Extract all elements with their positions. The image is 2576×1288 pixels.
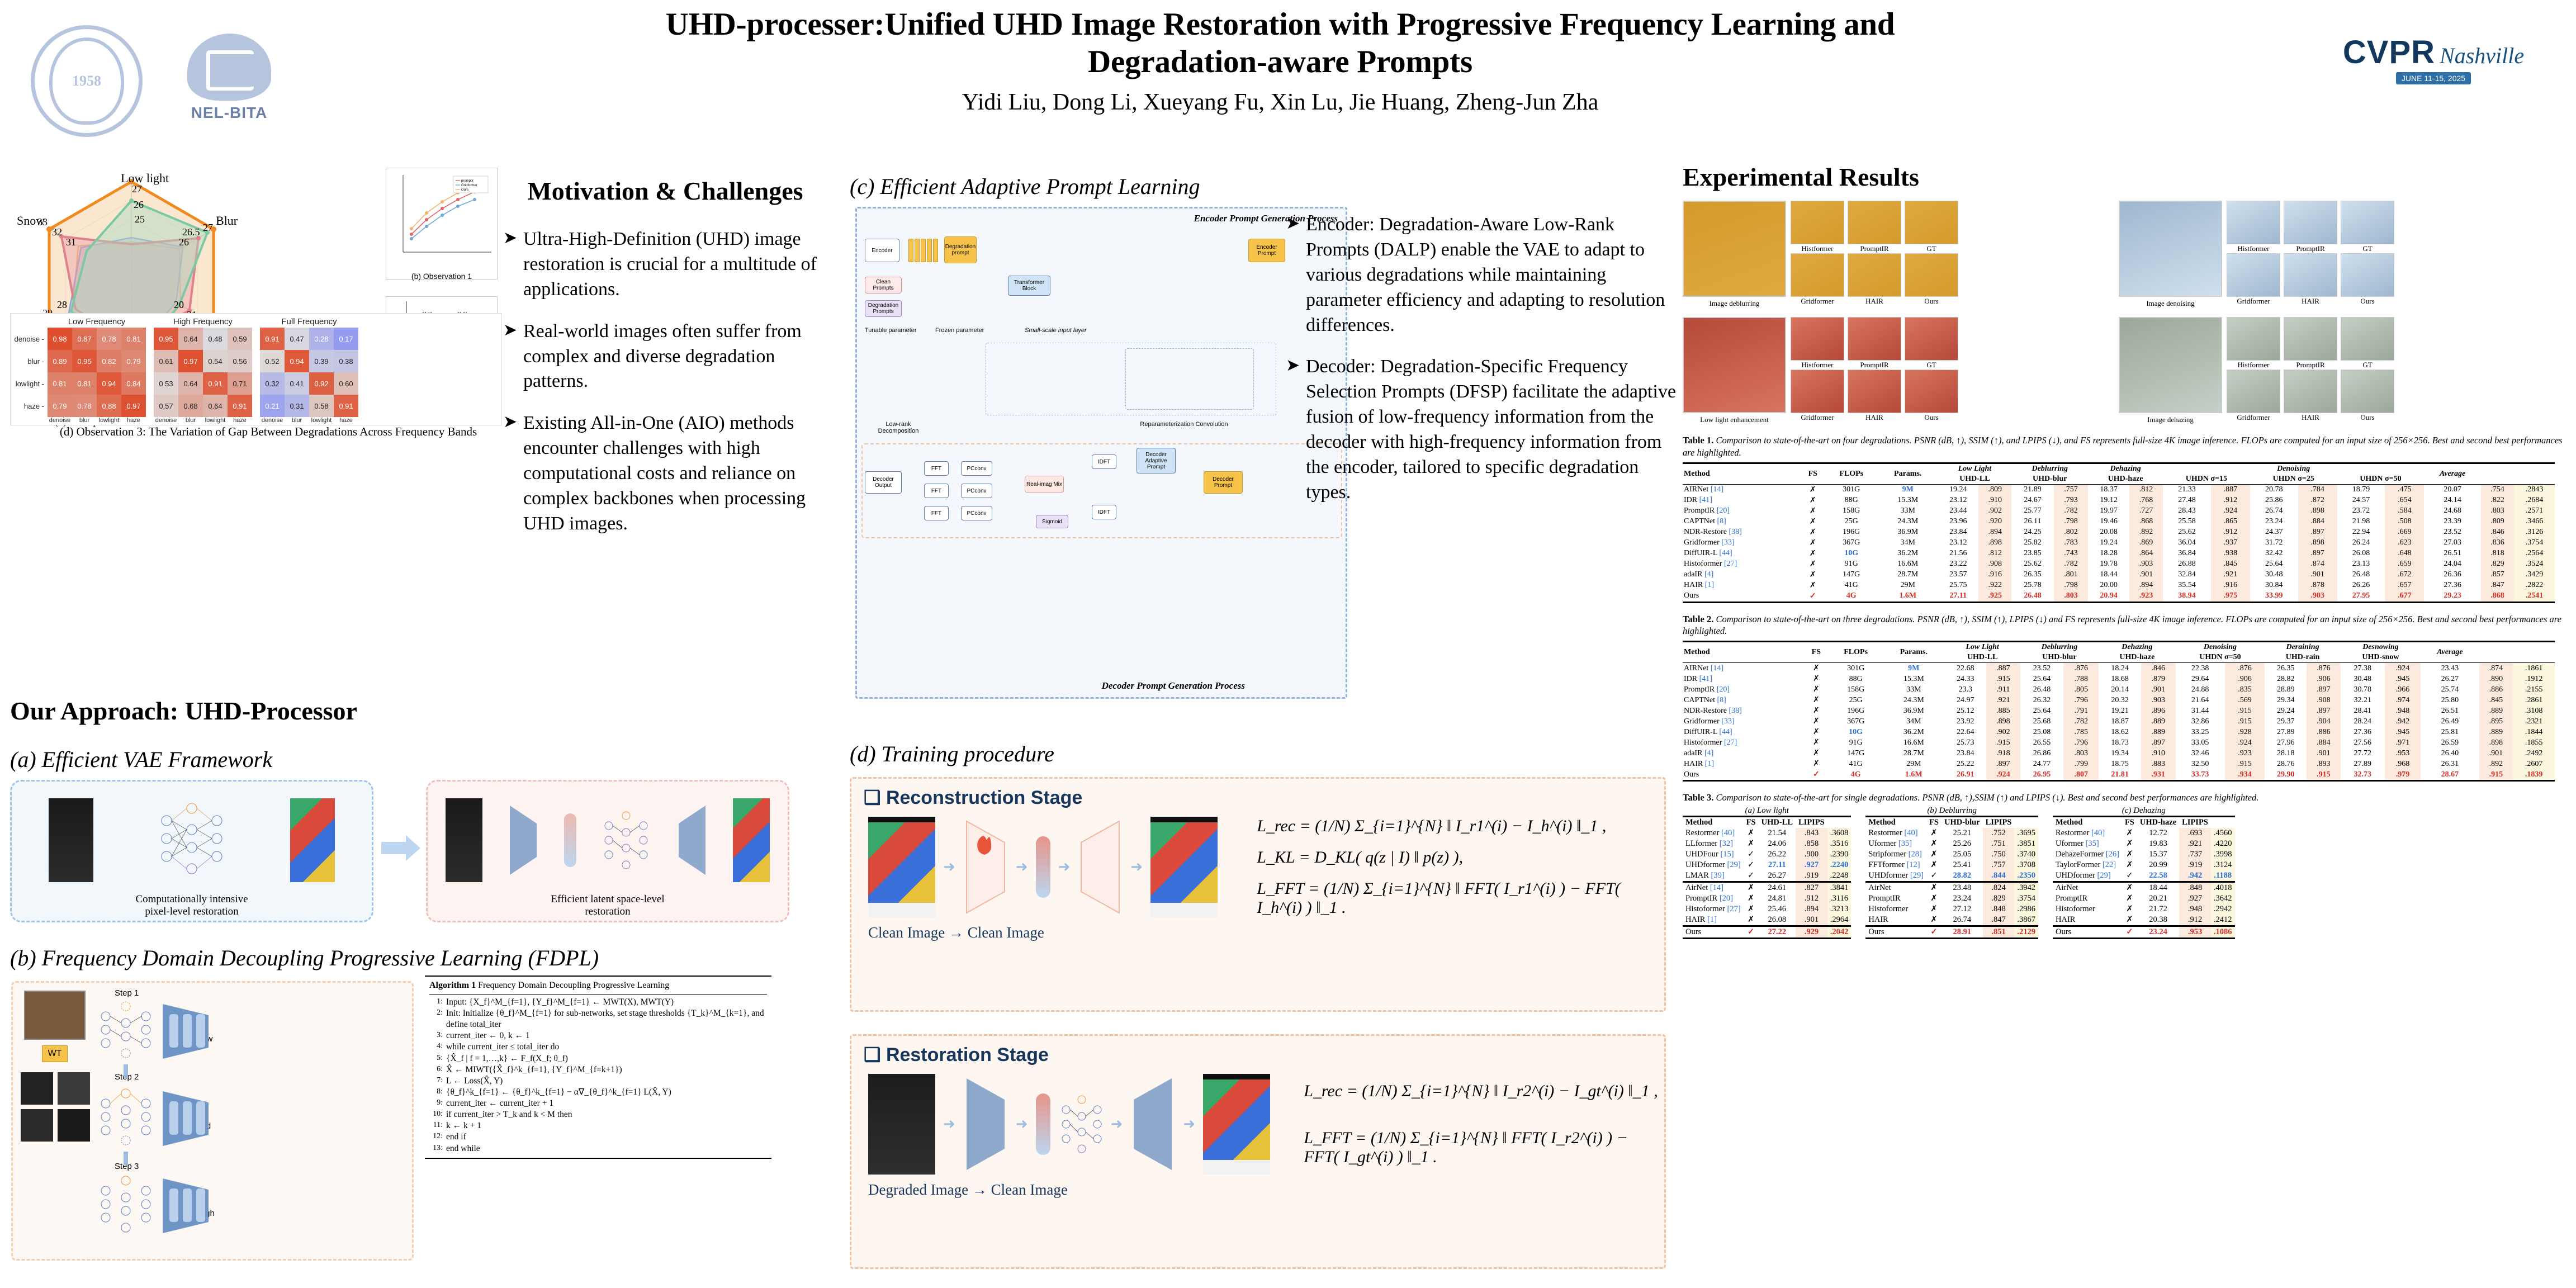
thumbnail-cell: PromptIR	[1848, 317, 1901, 370]
method-label: Gridformer	[2227, 297, 2280, 306]
table-cell: 36.9M	[1883, 705, 1944, 716]
table-cell: .868	[2481, 591, 2514, 603]
heatmap-row-label: haze -	[13, 395, 48, 417]
heatmap-cell: 0.88	[97, 395, 121, 417]
table-cell: ✗	[1804, 705, 1829, 716]
table-cell: .782	[2054, 506, 2088, 517]
svg-text:Ours: Ours	[461, 188, 468, 192]
table-cell: 26.88	[2163, 559, 2211, 570]
table-cell: 9M	[1878, 484, 1938, 495]
method-result-image	[1848, 317, 1901, 361]
table-header-cell: Average	[2424, 463, 2481, 484]
table-cell: 25.68	[2020, 716, 2063, 727]
citation-ref: [12]	[1906, 860, 1920, 869]
algorithm-line-number: 10:	[429, 1109, 443, 1120]
heatmap-cell: 0.91	[228, 395, 252, 417]
table-header-cell: UHDN σ=25	[2250, 474, 2337, 485]
table-cell: .931	[2141, 769, 2176, 781]
cvpr-main-label: CVPR	[2343, 34, 2435, 71]
table-cell: .896	[2141, 705, 2176, 716]
method-label: PromptIR	[2284, 244, 2337, 253]
table-cell: 28.43	[2163, 506, 2211, 517]
fdpl-diagram: WT Step 1 Step 2 Step 3 Low Mid High	[11, 981, 414, 1261]
citation-ref: [28]	[1909, 850, 1922, 859]
table-cell: 35.54	[2163, 580, 2211, 591]
heatmap-cell: 0.84	[121, 372, 146, 395]
method-result-image	[1791, 317, 1844, 361]
table3-cell: ✗	[2122, 915, 2137, 926]
table-cell: .743	[2054, 548, 2088, 559]
table-cell: 18.24	[2099, 663, 2141, 674]
table3-cell: 20.21	[2137, 893, 2179, 904]
table-cell: .979	[2385, 769, 2421, 781]
thumbnail-row: HistformerPromptIRGT	[2227, 201, 2394, 253]
table-cell: .822	[2481, 495, 2514, 506]
table-row: CAPTNet [8]✗25G24.3M23.96.92026.11.79819…	[1683, 517, 2555, 527]
cvpr-logo: CVPR Nashville JUNE 11-15, 2025	[2322, 17, 2545, 101]
fdpl-wt-block: WT	[42, 1045, 68, 1062]
table-method-cell: PromptIR [20]	[1683, 506, 1801, 517]
heatmap-cell: 0.98	[48, 328, 72, 350]
task-label: Low light enhancement	[1683, 415, 1786, 424]
method-label: Ours	[1905, 297, 1958, 306]
task-label: Image deblurring	[1683, 299, 1786, 308]
table-cell: 26.91	[1944, 769, 1986, 781]
table-cell: 23.44	[1938, 506, 1978, 517]
table-cell: 30.48	[2341, 674, 2385, 684]
heatmap-cell: 0.60	[334, 372, 358, 395]
table-cell: .809	[1978, 484, 2011, 495]
table-cell: 18.75	[2099, 759, 2141, 769]
thumbnail-cell: Ours	[2341, 370, 2394, 422]
table-method-cell: DiffUIR-L [44]	[1683, 548, 1801, 559]
table-header-cell: FLOPs	[1825, 463, 1878, 484]
latent-input-image	[446, 798, 482, 882]
table-cell: .865	[2211, 517, 2250, 527]
small-scale-input-layer-label: Small-scale input layer	[1025, 327, 1087, 334]
thumbnail-cell: Ours	[1905, 253, 1958, 306]
citation-ref: [8]	[1717, 696, 1726, 704]
table-header-cell: FLOPs	[1829, 642, 1883, 663]
arrow-icon: ➜	[1183, 1116, 1195, 1133]
table-cell: .928	[2225, 727, 2265, 737]
table-cell: .923	[2129, 591, 2163, 603]
table-header-cell: UHD-LL	[1938, 474, 2011, 485]
table-cell: .669	[2385, 527, 2424, 538]
table3-cell: ✗	[1744, 882, 1759, 893]
table-cell: 25G	[1829, 695, 1883, 705]
table3-row: AirNet [14]✗24.61.827.3841	[1683, 882, 1851, 893]
table-row: Gridformer [33]✗367G34M23.92.89825.68.78…	[1683, 716, 2555, 727]
table-cell: .920	[1978, 517, 2011, 527]
algorithm-line-number: 13:	[429, 1143, 443, 1154]
table-cell: ✗	[1801, 570, 1825, 580]
algorithm-line-number: 11:	[429, 1120, 443, 1131]
fdpl-heading: (b) Frequency Domain Decoupling Progress…	[10, 945, 599, 971]
table-row: PromptIR [20]✗158G33M23.44.90225.77.7821…	[1683, 506, 2555, 517]
table3-method-cell: HAIR	[2053, 915, 2122, 926]
task-label: Image denoising	[2119, 299, 2222, 308]
method-label: Ours	[1905, 413, 1958, 422]
algorithm-line: 3:current_iter ← 0, k ← 1	[429, 1030, 767, 1041]
table3-cell: .919	[2179, 860, 2211, 870]
table-cell: .654	[2385, 495, 2424, 506]
table-cell: .953	[2385, 748, 2421, 759]
prompt-learning-bullets: ➤ Encoder: Degradation-Aware Low-Rank Pr…	[1286, 212, 1677, 522]
table-cell: .886	[2307, 727, 2341, 737]
table-cell: 19.21	[2099, 705, 2141, 716]
table3-caption-text: Comparison to state-of-the-art for singl…	[1716, 792, 2258, 803]
table3-row: FFTformer [12]✗25.41.757.3708	[1865, 860, 2038, 870]
table-cell: 91G	[1825, 559, 1878, 570]
heatmap-cell: 0.78	[97, 328, 121, 350]
table-cell: 4G	[1829, 769, 1883, 781]
table3-row: UHDFour [15]✓26.22.900.2390	[1683, 849, 1851, 860]
table-cell: .894	[2129, 580, 2163, 591]
table3-row: Ours✓23.24.953.1086	[2053, 926, 2235, 938]
table-cell: 24.33	[1944, 674, 1986, 684]
table3-cell: 24.06	[1759, 839, 1796, 849]
table-cell: 41G	[1829, 759, 1883, 769]
decoder-panel-label: Decoder Prompt Generation Process	[1102, 680, 1245, 692]
reparam-region	[1125, 348, 1254, 410]
citation-ref: [38]	[1729, 528, 1742, 536]
table3-cell: ✗	[1926, 893, 1942, 904]
table-cell: 27.36	[2424, 580, 2481, 591]
method-label: Ours	[2341, 413, 2394, 422]
table3-method-cell: PromptIR	[2053, 893, 2122, 904]
table-cell: .846	[2141, 663, 2176, 674]
heatmap-cell: 0.94	[97, 372, 121, 395]
algorithm-line-number: 9:	[429, 1098, 443, 1109]
algorithm-line-number: 5:	[429, 1053, 443, 1064]
table-cell: .879	[2141, 674, 2176, 684]
algorithm-line-text: L ← Loss(X̂, Y)	[446, 1076, 503, 1087]
table-cell: 196G	[1829, 705, 1883, 716]
table-cell: ✗	[1804, 727, 1829, 737]
table3-cell: .1086	[2211, 926, 2235, 938]
table-cell: 23.39	[2424, 517, 2481, 527]
table3-cell: .824	[1983, 882, 2015, 893]
table-cell: 19.12	[2088, 495, 2129, 506]
table-cell: .812	[1978, 548, 2011, 559]
method-result-image	[2284, 201, 2337, 244]
thumbnail-row: GridformerHAIROurs	[2227, 253, 2394, 306]
table-cell: 30.78	[2341, 684, 2385, 695]
table-cell: 25.78	[2011, 580, 2053, 591]
table-cell: 23.43	[2421, 663, 2479, 674]
table-cell: .883	[2141, 759, 2176, 769]
method-label: GT	[2341, 244, 2394, 253]
table-cell: 23.24	[2250, 517, 2298, 527]
table-cell: .902	[1986, 727, 2020, 737]
table-cell: 21.89	[2011, 484, 2053, 495]
page-title-line1: UHD-processer:Unified UHD Image Restorat…	[335, 6, 2225, 43]
table1-caption: Table 1. Comparison to state-of-the-art …	[1683, 434, 2566, 459]
table-cell: 26.86	[2020, 748, 2063, 759]
table-cell: 25.81	[2421, 727, 2479, 737]
table-cell: 24.97	[1944, 695, 1986, 705]
table3-cell: .953	[2179, 926, 2211, 938]
table-cell: .942	[2385, 716, 2421, 727]
algorithm-lines: 1:Input: {X_f}^M_{f=1}, {Y_f}^M_{f=1} ← …	[429, 997, 767, 1154]
algorithm-line: 9:current_iter ← current_iter + 1	[429, 1098, 767, 1109]
formula-lrec: L_rec = (1/N) Σ_{i=1}^{N} ‖ I_r1^(i) − I…	[1257, 817, 1664, 836]
citation-ref: [27]	[1724, 560, 1737, 568]
table-cell: 25.75	[1938, 580, 1978, 591]
big-image-column: Image denoising	[2119, 201, 2222, 308]
table3-cell: .3867	[2014, 915, 2038, 926]
table-cell: 20.94	[2088, 591, 2129, 603]
algorithm-title: Algorithm 1 Frequency Domain Decoupling …	[429, 980, 767, 995]
arrow-icon: ➜	[1016, 1116, 1028, 1133]
heatmap-group-gap	[146, 328, 154, 350]
table-cell: 26.26	[2337, 580, 2385, 591]
fdpl-band-hl	[21, 1109, 53, 1142]
heatmap-cell: 0.91	[334, 395, 358, 417]
restore-mlp-icon	[1058, 1091, 1103, 1158]
algorithm-title-rest: Frequency Domain Decoupling Progressive …	[478, 981, 669, 990]
algorithm-line: 13:end while	[429, 1143, 767, 1154]
method-label: Histformer	[1791, 244, 1844, 253]
table-cell: .793	[2054, 495, 2088, 506]
table-cell: ✗	[1804, 695, 1829, 705]
table-cell: .2843	[2514, 484, 2555, 495]
citation-ref: [40]	[1721, 828, 1735, 837]
table-cell: .782	[2063, 716, 2099, 727]
citation-ref: [33]	[1721, 717, 1734, 726]
method-result-image	[2227, 370, 2280, 413]
method-label: PromptIR	[2284, 361, 2337, 370]
table-cell: .2684	[2514, 495, 2555, 506]
table-cell: ✗	[1804, 716, 1829, 727]
thumbnail-cell: Histformer	[2227, 317, 2280, 370]
qualitative-results-grid: Image deblurringHistformerPromptIRGTGrid…	[1683, 201, 2566, 424]
table-cell: 20.00	[2088, 580, 2129, 591]
table-cell: 23.96	[1938, 517, 1978, 527]
table-cell: ✗	[1804, 759, 1829, 769]
mlp-network-icon	[155, 798, 228, 882]
table-cell: .889	[2479, 727, 2513, 737]
restore-input-image	[868, 1074, 935, 1175]
decoder-region	[861, 443, 1342, 538]
table3-cell: 24.61	[1759, 882, 1796, 893]
table1-caption-num: Table 1.	[1683, 435, 1713, 446]
method-label: HAIR	[1848, 297, 1901, 306]
table-cell: 26.55	[2020, 737, 2063, 748]
qualitative-image-set: Image dehazingHistformerPromptIRGTGridfo…	[2119, 317, 2544, 424]
thumbnail-cell: PromptIR	[2284, 201, 2337, 253]
table-cell: .2155	[2513, 684, 2555, 695]
arrow-icon: ➜	[1058, 859, 1071, 875]
table-cell: 26.35	[2265, 663, 2307, 674]
heatmap-cell: 0.41	[285, 372, 309, 395]
algorithm-line-text: while current_iter ≤ total_iter do	[446, 1041, 559, 1053]
table-cell: .677	[2385, 591, 2424, 603]
heatmap-row: blur -0.890.950.820.790.610.970.540.560.…	[13, 350, 499, 372]
latent-vector	[564, 813, 576, 867]
heatmap-cell: 0.79	[48, 395, 72, 417]
approach-heading: Our Approach: UHD-Processor	[10, 696, 357, 726]
table3-cell: 12.72	[2137, 828, 2179, 839]
table3-row: HAIR✗20.38.912.2412	[2053, 915, 2235, 926]
table-cell: 21.64	[2176, 695, 2225, 705]
heatmap-cell: 0.21	[260, 395, 285, 417]
observation3-heatmap: Low Frequency High Frequency Full Freque…	[10, 313, 502, 425]
table3-row: Ours✓28.91.851.2129	[1865, 926, 2038, 938]
table3-cell: ✗	[1926, 839, 1942, 849]
table-cell: .508	[2385, 517, 2424, 527]
algorithm-line: 5:{X̂_f | f = 1,…,k} ← F_f(X_f; θ_f)	[429, 1053, 767, 1064]
heatmap-cell: 0.81	[48, 372, 72, 395]
table3-cell: ✗	[2122, 882, 2137, 893]
motivation-bullets: ➤ Ultra-High-Definition (UHD) image rest…	[503, 227, 827, 537]
restore-latent	[1036, 1093, 1050, 1155]
table-header-cell: UHD-haze	[2088, 474, 2163, 485]
table-cell: 19.24	[1938, 484, 1978, 495]
table-row: adaIR [4]✗147G28.7M23.57.91626.35.80118.…	[1683, 570, 2555, 580]
table3-cell: .750	[1983, 849, 2015, 860]
table-cell: .768	[2129, 495, 2163, 506]
table3-row: PromptIR✗23.24.829.3754	[1865, 893, 2038, 904]
prompt-bullet: ➤ Decoder: Degradation-Specific Frequenc…	[1286, 354, 1677, 505]
table3-cell: ✓	[1926, 870, 1942, 882]
table3-cell: .1188	[2211, 870, 2235, 882]
motivation-bullet: ➤ Existing All-in-One (AIO) methods enco…	[503, 411, 827, 536]
table3-caption-num: Table 3.	[1683, 792, 1713, 803]
table3-method-cell: FFTformer [12]	[1865, 860, 1926, 870]
table-method-cell: DiffUIR-L [44]	[1683, 727, 1804, 737]
thumbnail-row: HistformerPromptIRGT	[1791, 317, 1958, 370]
algorithm-line-number: 7:	[429, 1076, 443, 1087]
table3-cell: .848	[1983, 904, 2015, 915]
table-cell: .901	[2307, 748, 2341, 759]
table-cell: 24.3M	[1883, 695, 1944, 705]
formula-lkl: L_KL = D_KL( q(z | I) ‖ p(z) ),	[1257, 848, 1664, 867]
method-result-image	[2227, 317, 2280, 361]
degraded-input-image	[2119, 201, 2222, 297]
table3-cell: 25.46	[1759, 904, 1796, 915]
table3-cell: ✗	[2122, 904, 2137, 915]
table-cell: 19.46	[2088, 517, 2129, 527]
table-cell: 23.22	[1938, 559, 1978, 570]
heatmap-cell: 0.81	[121, 328, 146, 350]
table-cell: 4G	[1825, 591, 1878, 603]
table-header-cell: UHDN σ=50	[2337, 474, 2425, 485]
svg-text:Gridformer: Gridformer	[461, 184, 477, 187]
algorithm-line-text: end if	[446, 1131, 466, 1143]
citation-ref: [39]	[1711, 871, 1725, 880]
table-cell: .672	[2385, 570, 2424, 580]
table-cell: .910	[1978, 495, 2011, 506]
table-cell: .868	[2129, 517, 2163, 527]
algorithm-line-text: X̂ ← MIWT({X̂_f}^k_{f=1}, {Y_f}^M_{f=k+1…	[446, 1064, 622, 1076]
table-cell: 27.89	[2265, 727, 2307, 737]
table-cell: .2541	[2514, 591, 2555, 603]
citation-ref: [4]	[1704, 749, 1713, 757]
heatmap-row: lowlight -0.810.810.940.840.530.640.910.…	[13, 372, 499, 395]
table-cell: 22.64	[1944, 727, 1986, 737]
citation-ref: [41]	[1699, 675, 1712, 683]
heatmap-xlabels-full: denoise blur lowlight haze	[260, 417, 358, 424]
table-method-cell: NDR-Restore [38]	[1683, 705, 1804, 716]
heatmap-cell: 0.38	[334, 350, 358, 372]
table3-cell: .3740	[2014, 849, 2038, 860]
table-cell: .921	[2211, 570, 2250, 580]
method-result-image	[1905, 370, 1958, 413]
formula-lrec2: L_rec = (1/N) Σ_{i=1}^{N} ‖ I_r2^(i) − I…	[1304, 1082, 1664, 1101]
table3-row: Restormer [40]✗12.72.693.4560	[2053, 828, 2235, 839]
table3-cell: 18.44	[2137, 882, 2179, 893]
table-cell: .945	[2385, 727, 2421, 737]
table-cell: 23.72	[2337, 506, 2385, 517]
table-cell: 33M	[1878, 506, 1938, 517]
citation-ref: [14]	[1711, 485, 1723, 494]
recon-latent	[1036, 836, 1050, 898]
table-header-cell: Params.	[1883, 642, 1944, 663]
citation-ref: [14]	[1711, 664, 1723, 673]
table-row: adaIR [4]✗147G28.7M23.84.91826.86.80319.…	[1683, 748, 2555, 759]
table-method-cell: PromptIR [20]	[1683, 684, 1804, 695]
table3-cell: ✓	[1926, 926, 1942, 938]
table-cell: 29.64	[2176, 674, 2225, 684]
table3-cell: .4220	[2211, 839, 2235, 849]
restore-decoder-icon	[1130, 1074, 1175, 1175]
thumbnail-cell: GT	[1905, 317, 1958, 370]
table-cell: .3126	[2514, 527, 2555, 538]
table-method-cell: adaIR [4]	[1683, 748, 1804, 759]
table-cell: 27.11	[1938, 591, 1978, 603]
table-cell: .874	[2479, 663, 2513, 674]
table-header-cell: Deraining	[2265, 642, 2340, 653]
decoder-bullet-text: Decoder: Degradation-Specific Frequency …	[1306, 354, 1677, 505]
table-method-cell: NDR-Restore [38]	[1683, 527, 1801, 538]
table3-cell: .847	[1983, 915, 2015, 926]
degradation-prompts-block: Degradation Prompts	[865, 300, 902, 317]
heatmap-xlabel: haze	[228, 417, 252, 424]
table3-cell: .3695	[2014, 828, 2038, 839]
heatmap-xlabel: lowlight	[309, 417, 334, 424]
arrow-icon: ➜	[1016, 859, 1028, 875]
table3-cell: ✗	[1744, 904, 1759, 915]
table-cell: .857	[2481, 570, 2514, 580]
table-header-cell: Denoising	[2163, 463, 2424, 474]
table-cell: .912	[2211, 495, 2250, 506]
table3-method-cell: Ours	[1683, 926, 1744, 938]
heatmap-cell: 0.28	[309, 328, 334, 350]
brain-circuit-icon	[187, 34, 271, 101]
restoration-stage-panel: ❑ Restoration Stage ➜ ➜	[850, 1034, 1666, 1269]
table-cell: 25.86	[2250, 495, 2298, 506]
table-cell: 24.14	[2424, 495, 2481, 506]
table3-row: Restormer [40]✗25.21.752.3695	[1865, 828, 2038, 839]
table-cell: .2564	[2514, 548, 2555, 559]
table3-method-cell: DehazeFormer [26]	[2053, 849, 2122, 860]
svg-text:promptir: promptir	[461, 179, 473, 183]
table-cell: .803	[2481, 506, 2514, 517]
table-cell: .3108	[2513, 705, 2555, 716]
qualitative-image-set: Low light enhancementHistformerPromptIRG…	[1683, 317, 2108, 424]
table3-cell: ✗	[1926, 860, 1942, 870]
table3-subtable-title: (a) Low light	[1683, 806, 1851, 816]
prompt-learning-diagram: Encoder Prompt Generation Process Encode…	[855, 207, 1347, 699]
table-cell: 34M	[1878, 538, 1938, 548]
table3-method-cell: LMAR [39]	[1683, 870, 1744, 882]
thumbnail-cell: Ours	[1905, 370, 1958, 422]
bullet-arrow-icon: ➤	[503, 227, 523, 302]
recon-encoder-icon	[963, 817, 1008, 917]
algorithm-line-number: 6:	[429, 1064, 443, 1076]
